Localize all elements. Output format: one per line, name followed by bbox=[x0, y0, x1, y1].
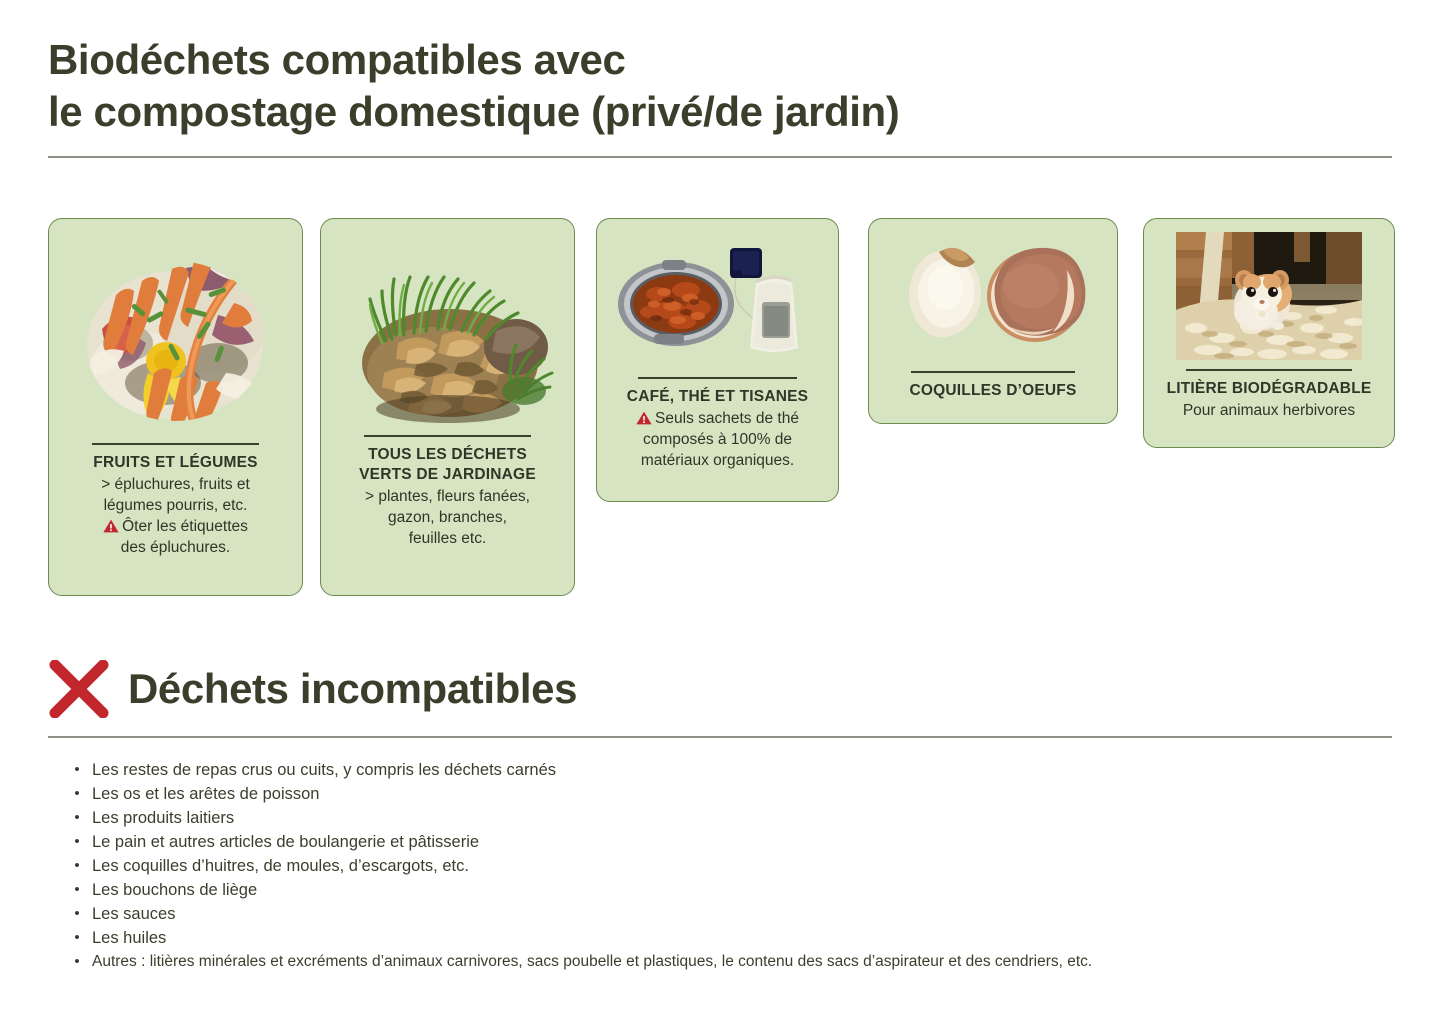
card-fruits-et-legumes[interactable]: FRUITS ET LÉGUMES > épluchures, fruits e… bbox=[48, 218, 303, 596]
card-separator bbox=[364, 435, 532, 437]
card-desc-litter: Pour animaux herbivores bbox=[1183, 400, 1355, 421]
list-item-text: Les sauces bbox=[92, 902, 1402, 926]
card-title-green-waste: TOUS LES DÉCHETS VERTS DE JARDINAGE bbox=[359, 445, 536, 485]
incompatible-title: Déchets incompatibles bbox=[128, 665, 577, 713]
image-green-waste bbox=[331, 229, 564, 429]
warning-cont: matériaux organiques. bbox=[636, 450, 799, 471]
desc-line: gazon, branches, bbox=[365, 507, 530, 528]
bullet-dot: • bbox=[62, 758, 92, 782]
desc-line: > épluchures, fruits et bbox=[101, 474, 250, 495]
list-item-text: Les produits laitiers bbox=[92, 806, 1402, 830]
card-desc-fruits: > épluchures, fruits et légumes pourris,… bbox=[101, 474, 250, 558]
bullet-dot: • bbox=[62, 950, 92, 974]
card-coquilles-oeufs[interactable]: COQUILLES D’OEUFS bbox=[868, 218, 1118, 424]
list-item-text: Les huiles bbox=[92, 926, 1402, 950]
page-title-line2: le compostage domestique (privé/de jardi… bbox=[48, 86, 1392, 138]
warning-line: Ôter les étiquettes bbox=[101, 516, 250, 537]
card-desc-coffee: Seuls sachets de thé composés à 100% de … bbox=[636, 408, 799, 471]
bullet-dot: • bbox=[62, 806, 92, 830]
bullet-dot: • bbox=[62, 830, 92, 854]
incompatible-list: • Les restes de repas crus ou cuits, y c… bbox=[62, 758, 1402, 974]
bullet-dot: • bbox=[62, 926, 92, 950]
list-item: • Autres : litières minérales et excréme… bbox=[62, 950, 1402, 974]
list-item-text: Les restes de repas crus ou cuits, y com… bbox=[92, 758, 1402, 782]
warning-cont: composés à 100% de bbox=[636, 429, 799, 450]
card-separator bbox=[92, 443, 260, 445]
card-dechets-verts[interactable]: TOUS LES DÉCHETS VERTS DE JARDINAGE > pl… bbox=[320, 218, 575, 596]
warning-text: Ôter les étiquettes bbox=[122, 518, 248, 535]
list-item-text: Les coquilles d’huitres, de moules, d’es… bbox=[92, 854, 1402, 878]
incompatible-heading-row: Déchets incompatibles bbox=[48, 660, 577, 718]
card-title-eggshells: COQUILLES D’OEUFS bbox=[909, 381, 1076, 401]
bullet-dot: • bbox=[62, 902, 92, 926]
list-item-text: Autres : litières minérales et excrément… bbox=[92, 950, 1402, 974]
list-item-text: Les os et les arêtes de poisson bbox=[92, 782, 1402, 806]
card-separator bbox=[638, 377, 797, 379]
title-line: VERTS DE JARDINAGE bbox=[359, 465, 536, 485]
title-line: TOUS LES DÉCHETS bbox=[359, 445, 536, 465]
warning-text: Seuls sachets de thé bbox=[655, 410, 799, 427]
desc-line: > plantes, fleurs fanées, bbox=[365, 486, 530, 507]
warning-triangle-icon bbox=[103, 519, 119, 533]
infographic-page: Biodéchets compatibles avec le compostag… bbox=[0, 0, 1440, 1018]
warning-line: Seuls sachets de thé bbox=[636, 408, 799, 429]
card-title-fruits: FRUITS ET LÉGUMES bbox=[93, 453, 257, 473]
image-hamster-bedding bbox=[1154, 229, 1384, 363]
card-cafe-the-tisanes[interactable]: CAFÉ, THÉ ET TISANES Seuls sachets de th… bbox=[596, 218, 839, 502]
bullet-dot: • bbox=[62, 878, 92, 902]
list-item: • Les coquilles d’huitres, de moules, d’… bbox=[62, 854, 1402, 878]
title-divider bbox=[48, 156, 1392, 158]
incompatible-divider bbox=[48, 736, 1392, 738]
list-item: • Les os et les arêtes de poisson bbox=[62, 782, 1402, 806]
compatible-cards-row: FRUITS ET LÉGUMES > épluchures, fruits e… bbox=[48, 218, 1398, 598]
list-item: • Les bouchons de liège bbox=[62, 878, 1402, 902]
desc-line: feuilles etc. bbox=[365, 528, 530, 549]
card-litiere-biodegradable[interactable]: LITIÈRE BIODÉGRADABLE Pour animaux herbi… bbox=[1143, 218, 1395, 448]
list-item: • Les sauces bbox=[62, 902, 1402, 926]
card-separator bbox=[1186, 369, 1352, 371]
card-title-coffee: CAFÉ, THÉ ET TISANES bbox=[627, 387, 808, 407]
card-desc-green-waste: > plantes, fleurs fanées, gazon, branche… bbox=[365, 486, 530, 549]
bullet-dot: • bbox=[62, 854, 92, 878]
bullet-dot: • bbox=[62, 782, 92, 806]
list-item-text: Le pain et autres articles de boulangeri… bbox=[92, 830, 1402, 854]
desc-line: légumes pourris, etc. bbox=[101, 495, 250, 516]
warning-cont: des épluchures. bbox=[101, 537, 250, 558]
list-item: • Le pain et autres articles de boulange… bbox=[62, 830, 1402, 854]
card-title-litter: LITIÈRE BIODÉGRADABLE bbox=[1167, 379, 1372, 399]
list-item: • Les restes de repas crus ou cuits, y c… bbox=[62, 758, 1402, 782]
red-x-icon bbox=[48, 660, 110, 718]
card-separator bbox=[911, 371, 1075, 373]
list-item: • Les produits laitiers bbox=[62, 806, 1402, 830]
list-item-text: Les bouchons de liège bbox=[92, 878, 1402, 902]
image-eggshells bbox=[879, 229, 1107, 365]
image-vegetable-peelings bbox=[59, 229, 292, 437]
image-coffee-and-teabag bbox=[607, 229, 828, 371]
list-item: • Les huiles bbox=[62, 926, 1402, 950]
warning-triangle-icon bbox=[636, 411, 652, 425]
page-title: Biodéchets compatibles avec le compostag… bbox=[48, 34, 1392, 138]
page-title-line1: Biodéchets compatibles avec bbox=[48, 34, 1392, 86]
